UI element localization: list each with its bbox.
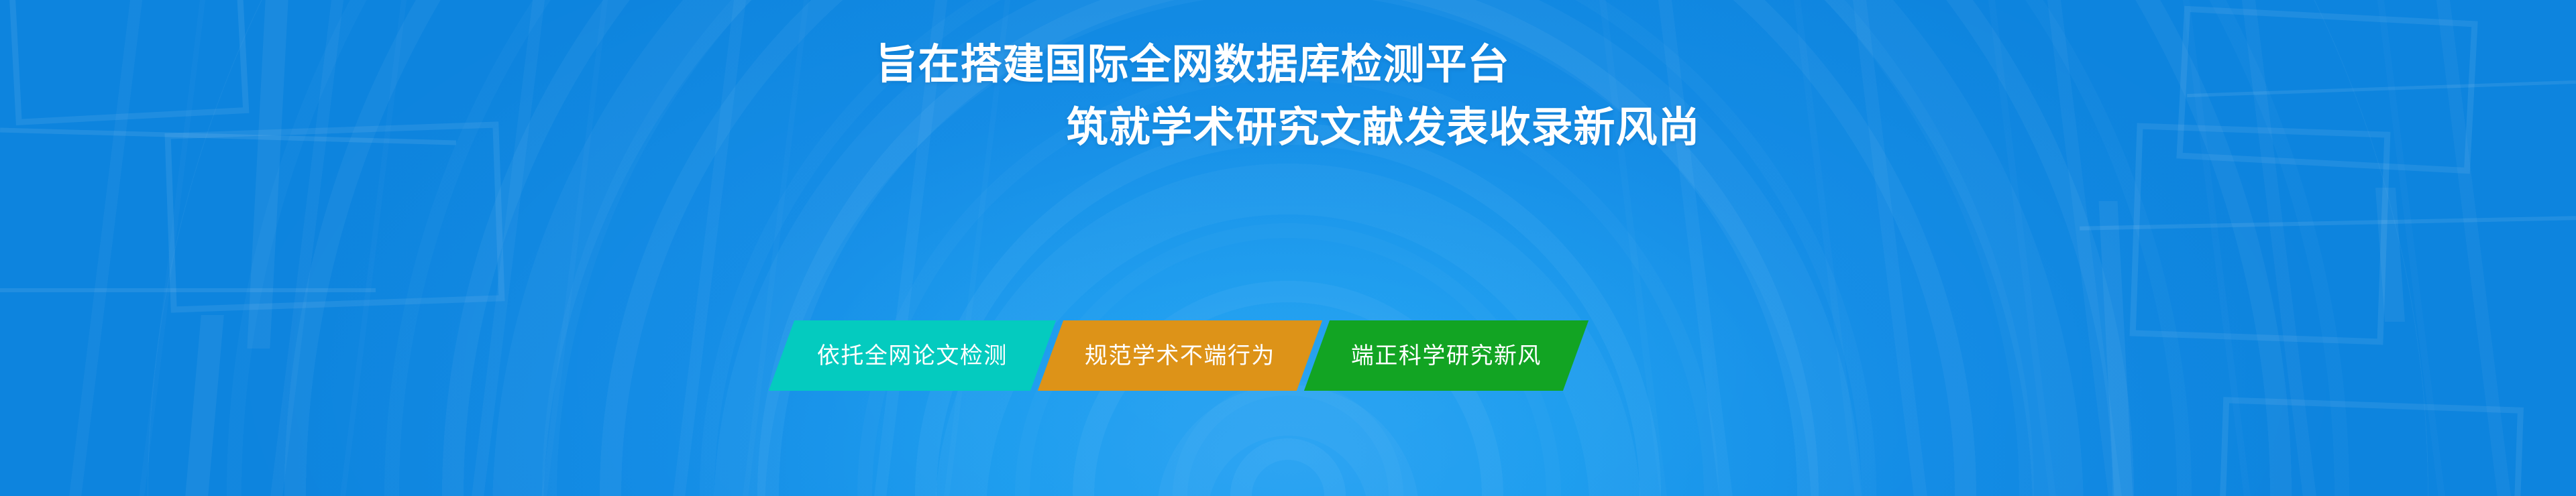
headline-line-1: 旨在搭建国际全网数据库检测平台 xyxy=(0,42,2481,88)
feature-tag-detection[interactable]: 依托全网论文检测 xyxy=(769,320,1056,391)
promo-banner: 旨在搭建国际全网数据库检测平台 筑就学术研究文献发表收录新风尚 依托全网论文检测… xyxy=(0,0,2576,496)
headline-line-2: 筑就学术研究文献发表收录新风尚 xyxy=(95,105,2576,151)
feature-tag-research-ethics[interactable]: 端正科学研究新风 xyxy=(1304,320,1589,391)
feature-tag-detection-label: 依托全网论文检测 xyxy=(817,345,1008,367)
feature-tag-misconduct[interactable]: 规范学术不端行为 xyxy=(1038,320,1322,391)
feature-tag-bar: 依托全网论文检测 规范学术不端行为 端正科学研究新风 xyxy=(782,320,1576,391)
feature-tag-research-ethics-label: 端正科学研究新风 xyxy=(1351,345,1542,367)
headline-block: 旨在搭建国际全网数据库检测平台 筑就学术研究文献发表收录新风尚 xyxy=(0,42,2576,151)
feature-tag-misconduct-label: 规范学术不端行为 xyxy=(1085,345,1275,367)
